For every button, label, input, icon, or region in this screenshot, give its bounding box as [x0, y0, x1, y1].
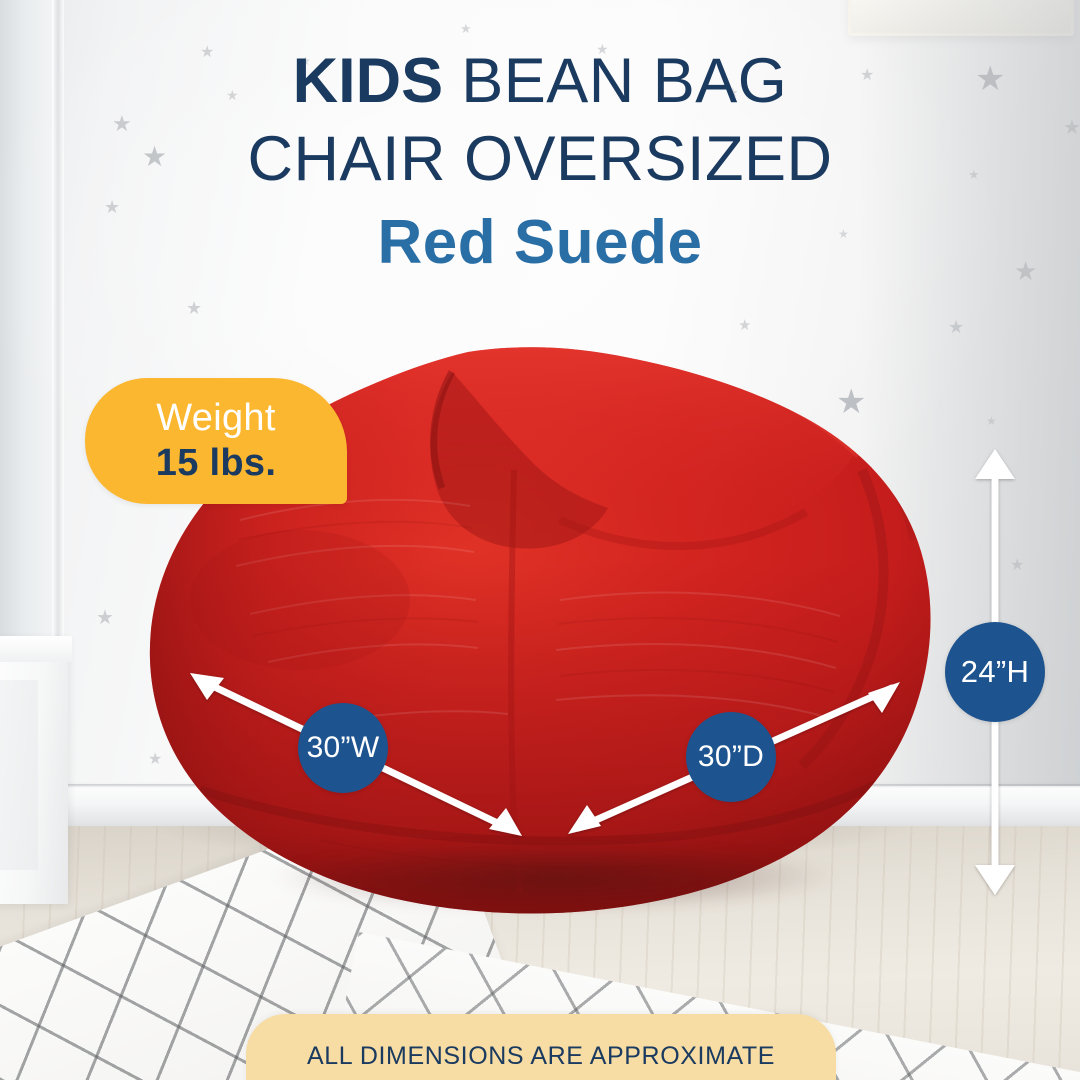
dimension-badge-height: 24”H [945, 622, 1045, 722]
title-line-2: CHAIR OVERSIZED [0, 120, 1080, 198]
title-rest-word: BEAN BAG [443, 46, 787, 116]
product-infographic: ★★★★★★★★★★★★★★★★★★★★★★★ [0, 0, 1080, 1080]
product-subtitle: Red Suede [0, 208, 1080, 278]
disclaimer-banner: ALL DIMENSIONS ARE APPROXIMATE [246, 1014, 836, 1080]
weight-badge-value: 15 lbs. [156, 441, 276, 485]
dimension-badge-depth: 30”D [686, 712, 776, 802]
weight-badge-label: Weight [156, 397, 275, 439]
title-kids-word: KIDS [293, 46, 444, 116]
bean-bag-contact-shadow [160, 845, 950, 925]
dimension-badge-width: 30”W [298, 703, 388, 793]
title-line-1: KIDS BEAN BAG [0, 42, 1080, 120]
product-title-block: KIDS BEAN BAG CHAIR OVERSIZED Red Suede [0, 42, 1080, 278]
disclaimer-text: ALL DIMENSIONS ARE APPROXIMATE [307, 1042, 775, 1071]
weight-badge: Weight 15 lbs. [85, 378, 347, 504]
